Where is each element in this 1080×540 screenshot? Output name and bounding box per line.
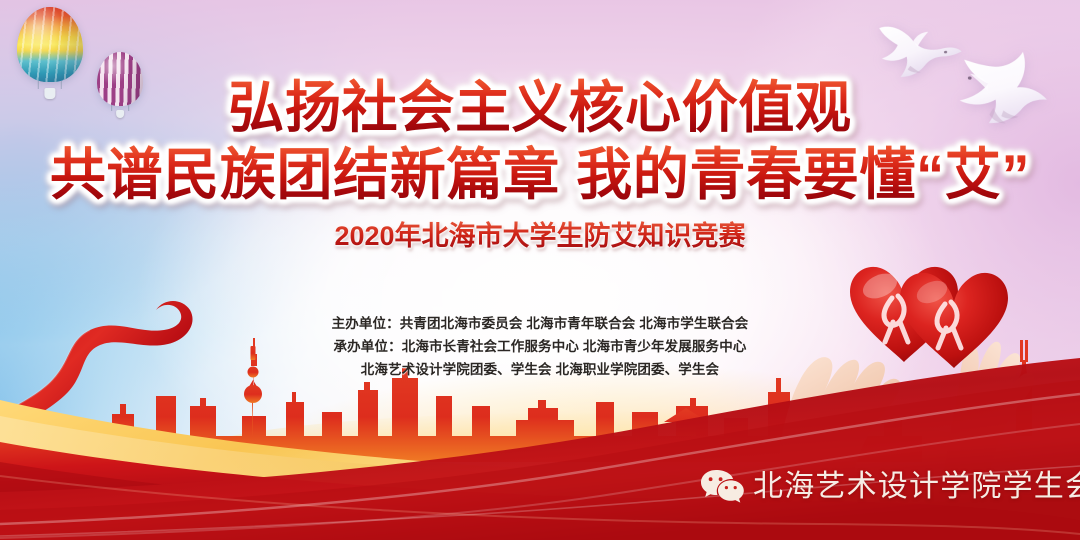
poster-canvas: 弘扬社会主义核心价值观 共谱民族团结新篇章 我的青春要懂“艾” 2020年北海市… bbox=[0, 0, 1080, 540]
dove-icon bbox=[935, 42, 1069, 147]
organizer-line: 承办单位：北海市长青社会工作服务中心 北海市青少年发展服务中心 bbox=[0, 335, 1080, 358]
organizer-block: 主办单位：共青团北海市委员会 北海市青年联合会 北海市学生联合会 承办单位：北海… bbox=[0, 312, 1080, 381]
wechat-icon bbox=[700, 468, 744, 506]
hot-air-balloon-icon bbox=[97, 52, 143, 118]
organizer-line: 主办单位：共青团北海市委员会 北海市青年联合会 北海市学生联合会 bbox=[0, 312, 1080, 335]
hot-air-balloon-icon bbox=[17, 7, 83, 99]
wechat-label: 北海艺术设计学院学生会 bbox=[753, 470, 1080, 504]
organizer-line: 北海艺术设计学院团委、学生会 北海职业学院团委、学生会 bbox=[0, 358, 1080, 381]
wechat-watermark: 北海艺术设计学院学生会 bbox=[700, 468, 1080, 506]
